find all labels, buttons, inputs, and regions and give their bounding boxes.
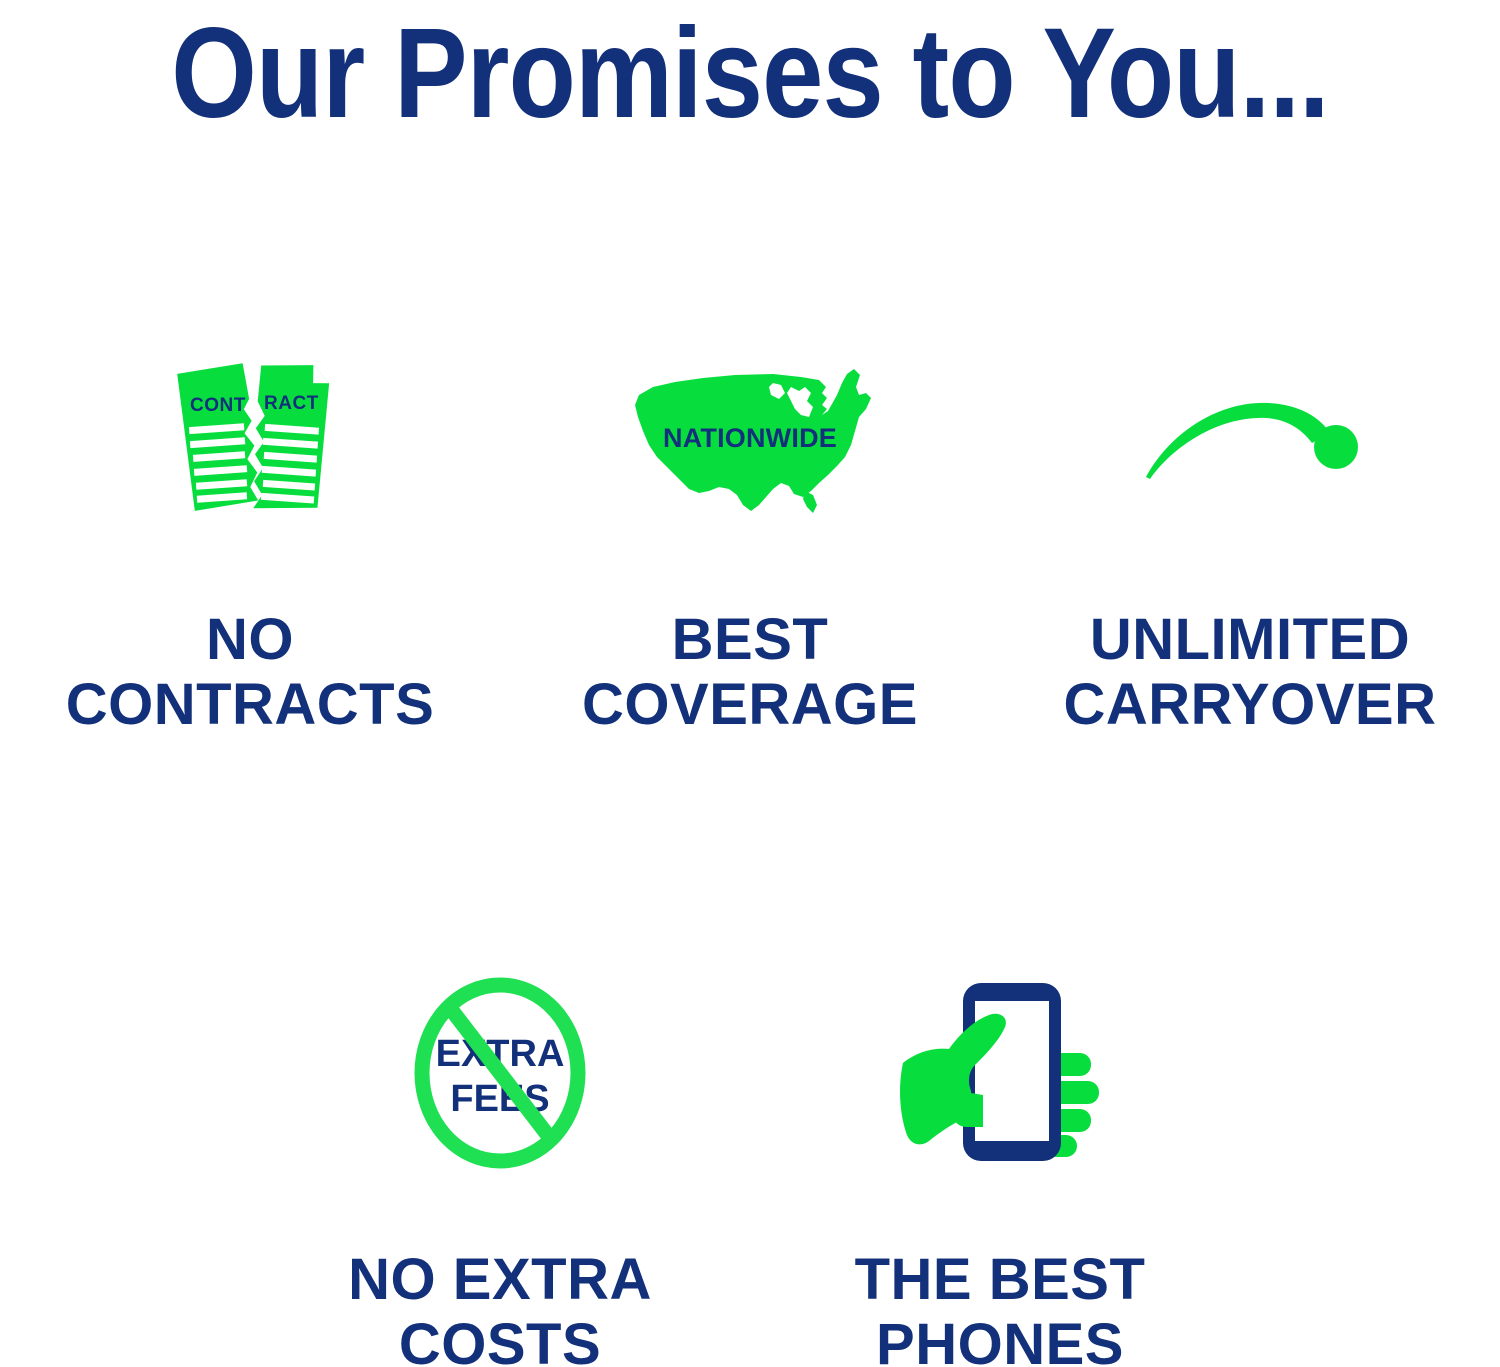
hand-holding-phone-icon — [893, 965, 1108, 1180]
promise-label-no-contracts: NO CONTRACTS — [66, 608, 435, 738]
contract-label-right: RACT — [264, 393, 319, 414]
promise-label-no-extra-costs: NO EXTRA COSTS — [348, 1248, 652, 1367]
carryover-arc-icon — [1140, 340, 1360, 540]
promise-card-no-extra-costs: EXTRA FEES NO EXTRA COSTS — [250, 965, 750, 1367]
promise-label-unlimited-carryover: UNLIMITED CARRYOVER — [1064, 608, 1437, 738]
usa-map-icon: NATIONWIDE — [623, 340, 878, 540]
promises-graphic: Our Promises to You... — [0, 0, 1500, 1367]
row-spacer-left — [0, 965, 250, 1367]
promises-row-bottom: EXTRA FEES NO EXTRA COSTS — [0, 965, 1500, 1367]
promise-card-no-contracts: CONT RACT NO CONTRACTS — [0, 340, 500, 738]
row-spacer-right — [1250, 965, 1500, 1367]
promise-card-unlimited-carryover: UNLIMITED CARRYOVER — [1000, 340, 1500, 738]
contract-label-left: CONT — [190, 395, 246, 416]
promise-card-the-best-phones: THE BEST PHONES — [750, 965, 1250, 1367]
nationwide-label: NATIONWIDE — [663, 423, 837, 453]
promise-label-the-best-phones: THE BEST PHONES — [855, 1248, 1146, 1367]
page-title: Our Promises to You... — [105, 6, 1395, 142]
no-extra-fees-icon: EXTRA FEES — [410, 965, 590, 1180]
torn-contract-icon: CONT RACT — [160, 340, 340, 540]
promise-label-best-coverage: BEST COVERAGE — [582, 608, 918, 738]
promise-card-best-coverage: NATIONWIDE BEST COVERAGE — [500, 340, 1000, 738]
promises-row-top: CONT RACT NO CONTRACTS NATIONWIDE BEST — [0, 340, 1500, 738]
carryover-ball — [1314, 425, 1358, 469]
